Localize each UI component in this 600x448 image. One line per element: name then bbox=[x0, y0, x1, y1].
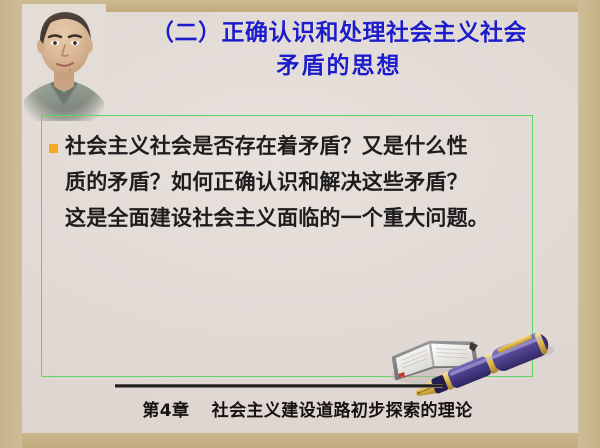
body-line-2: 质的矛盾？如何正确认识和解决这些矛盾？ bbox=[65, 164, 535, 200]
frame-border-bottom bbox=[0, 433, 600, 448]
footer-chapter-number: 第4章 bbox=[142, 401, 189, 421]
slide-title-line-2: 矛盾的思想 bbox=[108, 50, 570, 83]
mao-zedong-portrait-image bbox=[22, 4, 106, 121]
slide-canvas: （二）正确认识和处理社会主义社会 矛盾的思想 社会主义社会是否存在着矛盾？又是什… bbox=[0, 0, 600, 448]
slide-title-line-1: （二）正确认识和处理社会主义社会 bbox=[108, 17, 570, 50]
footer-chapter-title: 社会主义建设道路初步探索的理论 bbox=[212, 401, 473, 421]
body-paragraph: 社会主义社会是否存在着矛盾？又是什么性 质的矛盾？如何正确认识和解决这些矛盾？ … bbox=[65, 128, 535, 236]
body-line-1: 社会主义社会是否存在着矛盾？又是什么性 bbox=[65, 128, 535, 164]
frame-border-left bbox=[0, 0, 22, 448]
footer-chapter-label: 第4章 社会主义建设道路初步探索的理论 bbox=[60, 399, 555, 423]
body-line-3: 这是全面建设社会主义面临的一个重大问题。 bbox=[65, 200, 535, 236]
footer-divider-rule bbox=[115, 384, 443, 388]
slide-title: （二）正确认识和处理社会主义社会 矛盾的思想 bbox=[108, 17, 570, 83]
bullet-square-marker bbox=[49, 144, 58, 153]
frame-border-right bbox=[578, 0, 600, 448]
